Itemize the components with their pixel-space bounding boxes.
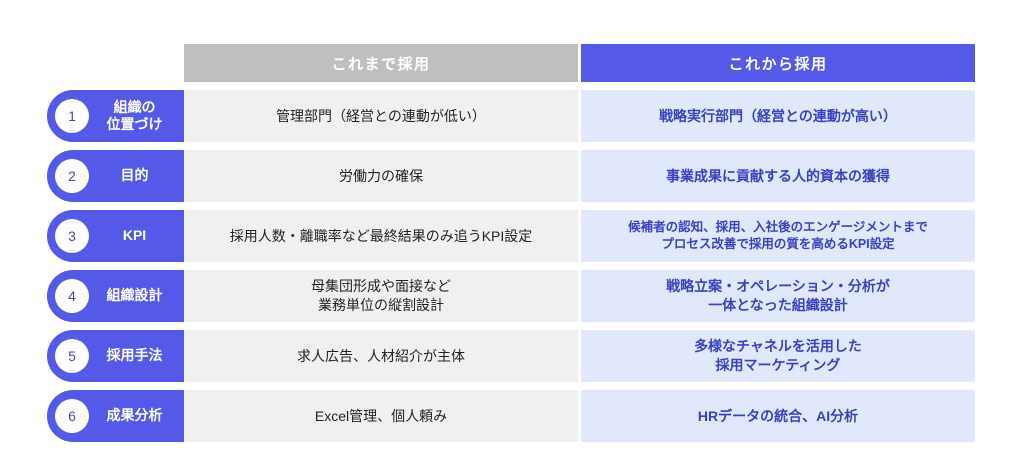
row-number-badge: 1	[55, 99, 89, 133]
cell-future: 戦略実行部門（経営との連動が高い）	[581, 90, 975, 142]
row-label-text: KPI	[89, 227, 184, 245]
cell-past: 採用人数・離職率など最終結果のみ追うKPI設定	[184, 210, 578, 262]
row-label-pill: 5 採用手法	[47, 330, 184, 382]
column-header-past: これまで採用	[184, 44, 578, 82]
row-label-pill: 2 目的	[47, 150, 184, 202]
cell-future: HRデータの統合、AI分析	[581, 390, 975, 442]
table-row: 4 組織設計 母集団形成や面接など 業務単位の縦割設計 戦略立案・オペレーション…	[0, 270, 1024, 322]
row-number-badge: 2	[55, 159, 89, 193]
table-row: 6 成果分析 Excel管理、個人頼み HRデータの統合、AI分析	[0, 390, 1024, 442]
cell-past: 母集団形成や面接など 業務単位の縦割設計	[184, 270, 578, 322]
row-number-badge: 3	[55, 219, 89, 253]
row-label-text: 組織の 位置づけ	[89, 99, 184, 134]
row-label-text: 組織設計	[89, 287, 184, 305]
cell-past: Excel管理、個人頼み	[184, 390, 578, 442]
row-label-text: 目的	[89, 167, 184, 185]
table-row: 5 採用手法 求人広告、人材紹介が主体 多様なチャネルを活用した 採用マーケティ…	[0, 330, 1024, 382]
comparison-table-slide: これまで採用 これから採用 1 組織の 位置づけ 管理部門（経営との連動が低い）…	[0, 0, 1024, 456]
table-body: 1 組織の 位置づけ 管理部門（経営との連動が低い） 戦略実行部門（経営との連動…	[0, 90, 1024, 450]
row-label-text: 採用手法	[89, 347, 184, 365]
cell-past: 求人広告、人材紹介が主体	[184, 330, 578, 382]
comparison-table: これまで採用 これから採用 1 組織の 位置づけ 管理部門（経営との連動が低い）…	[0, 0, 1024, 456]
cell-past: 労働力の確保	[184, 150, 578, 202]
row-label-text: 成果分析	[89, 407, 184, 425]
cell-future: 多様なチャネルを活用した 採用マーケティング	[581, 330, 975, 382]
table-row: 1 組織の 位置づけ 管理部門（経営との連動が低い） 戦略実行部門（経営との連動…	[0, 90, 1024, 142]
cell-past: 管理部門（経営との連動が低い）	[184, 90, 578, 142]
row-label-pill: 3 KPI	[47, 210, 184, 262]
cell-future: 候補者の認知、採用、入社後のエンゲージメントまで プロセス改善で採用の質を高める…	[581, 210, 975, 262]
row-label-pill: 6 成果分析	[47, 390, 184, 442]
table-header-row: これまで採用 これから採用	[184, 44, 975, 82]
row-number-badge: 6	[55, 399, 89, 433]
table-row: 3 KPI 採用人数・離職率など最終結果のみ追うKPI設定 候補者の認知、採用、…	[0, 210, 1024, 262]
cell-future: 戦略立案・オペレーション・分析が 一体となった組織設計	[581, 270, 975, 322]
row-label-pill: 1 組織の 位置づけ	[47, 90, 184, 142]
table-row: 2 目的 労働力の確保 事業成果に貢献する人的資本の獲得	[0, 150, 1024, 202]
column-header-future: これから採用	[581, 44, 975, 82]
cell-future: 事業成果に貢献する人的資本の獲得	[581, 150, 975, 202]
row-label-pill: 4 組織設計	[47, 270, 184, 322]
row-number-badge: 4	[55, 279, 89, 313]
row-number-badge: 5	[55, 339, 89, 373]
